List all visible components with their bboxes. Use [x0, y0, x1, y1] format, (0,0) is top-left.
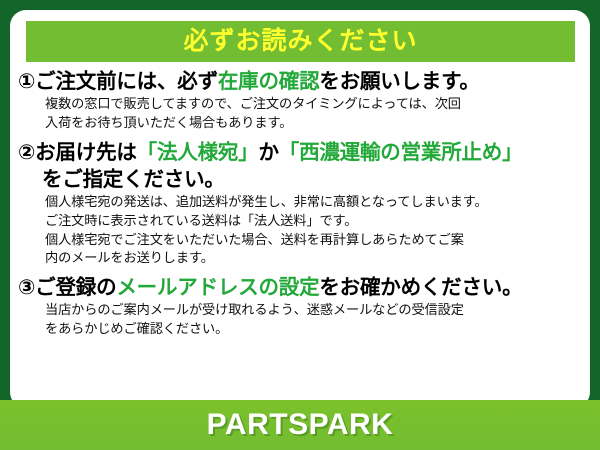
notice-sub-3: 当店からのご案内メールが受け取れるよう、迷惑メールなどの受信設定 をあらかじめご… — [18, 301, 584, 338]
list-marker-3: ③ — [18, 276, 35, 299]
list-marker-1: ① — [18, 70, 35, 93]
page-title: 必ずお読みください — [183, 29, 417, 54]
footer-bar: PARTSPARK — [0, 400, 600, 450]
header-banner: 必ずお読みください — [26, 21, 575, 62]
notice-card: 必ずお読みください ①ご注文前には、必ず在庫の確認をお願いします。 複数の窓口で… — [0, 0, 600, 450]
notice-sub-2: 個人様宅宛の発送は、追加送料が発生し、非常に高額となってしまいます。 ご注文時に… — [18, 193, 584, 268]
notice-sub-3-line-1: 当店からのご案内メールが受け取れるよう、迷惑メールなどの受信設定 — [45, 301, 584, 320]
list-item: ①ご注文前には、必ず在庫の確認をお願いします。 複数の窓口で販売してますので、ご… — [18, 68, 584, 133]
notice-sub-1-line-1: 複数の窓口で販売してますので、ご注文のタイミングによっては、次回 — [45, 95, 584, 114]
notice-heading-2-post-line: をご指定ください。 — [18, 166, 584, 193]
notice-heading-2-highlight: 「法人様宛」 — [137, 141, 259, 164]
notice-heading-3-pre: ご登録の — [35, 276, 116, 299]
notice-sub-2-line-4: 内のメールをお送りします。 — [45, 249, 584, 268]
notice-heading-2-highlight-2: 「西濃運輸の営業所止め」 — [279, 141, 523, 164]
notice-heading-1-post: をお願いします。 — [319, 70, 479, 93]
list-item: ③ご登録のメールアドレスの設定をお確かめください。 当店からのご案内メールが受け… — [18, 274, 584, 339]
notice-heading-3: ③ご登録のメールアドレスの設定をお確かめください。 — [18, 274, 584, 301]
notice-sub-3-line-2: をあらかじめご確認ください。 — [45, 320, 584, 339]
notice-sub-2-line-1: 個人様宅宛の発送は、追加送料が発生し、非常に高額となってしまいます。 — [45, 193, 584, 212]
notice-panel: 必ずお読みください ①ご注文前には、必ず在庫の確認をお願いします。 複数の窓口で… — [10, 10, 590, 408]
brand-logo: PARTSPARK — [207, 410, 394, 440]
notice-heading-1-pre: ご注文前には、必ず — [35, 70, 218, 93]
notice-sub-1: 複数の窓口で販売してますので、ご注文のタイミングによっては、次回 入荷をお待ち頂… — [18, 95, 584, 132]
list-item: ②お届け先は「法人様宛」か「西濃運輸の営業所止め」 をご指定ください。 個人様宅… — [18, 139, 584, 268]
notice-sub-1-line-2: 入荷をお待ち頂いただく場合もあります。 — [45, 114, 584, 133]
notice-heading-3-highlight: メールアドレスの設定 — [116, 276, 319, 299]
notice-list: ①ご注文前には、必ず在庫の確認をお願いします。 複数の窓口で販売してますので、ご… — [10, 68, 590, 345]
notice-heading-1: ①ご注文前には、必ず在庫の確認をお願いします。 — [18, 68, 584, 95]
notice-heading-1-highlight: 在庫の確認 — [218, 70, 320, 93]
notice-heading-2-mid: か — [258, 141, 278, 164]
notice-sub-2-line-2: ご注文時に表示されている送料は「法人送料」です。 — [45, 212, 584, 231]
notice-sub-2-line-3: 個人様宅宛でご注文をいただいた場合、送料を再計算しあらためてご案 — [45, 231, 584, 250]
notice-heading-3-post: をお確かめください。 — [319, 276, 522, 299]
notice-heading-2: ②お届け先は「法人様宛」か「西濃運輸の営業所止め」 — [18, 139, 584, 166]
list-marker-2: ② — [18, 141, 35, 164]
notice-heading-2-pre: お届け先は — [35, 141, 137, 164]
